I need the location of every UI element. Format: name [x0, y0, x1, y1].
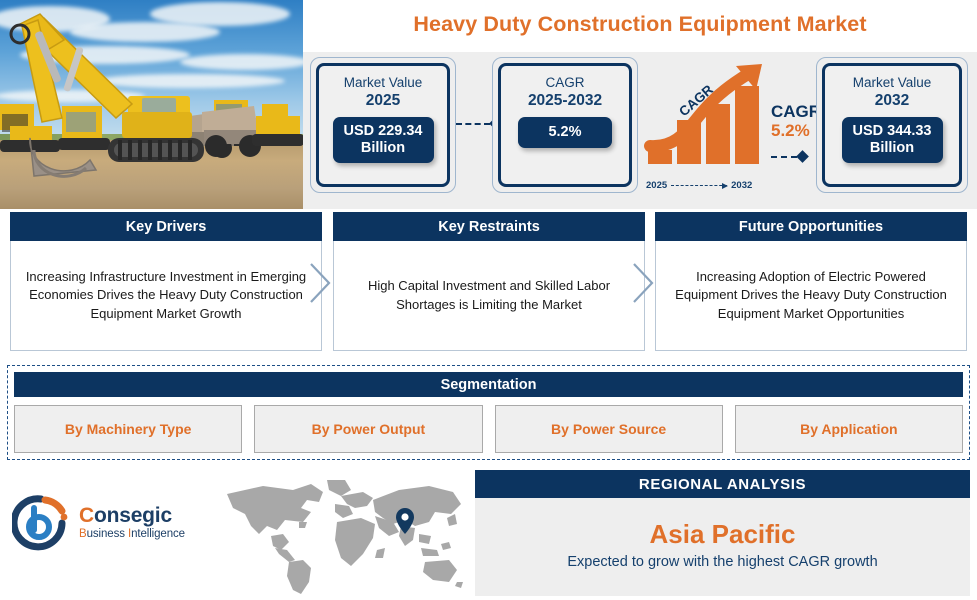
panel-key-drivers[interactable]: Key Drivers Increasing Infrastructure In… [10, 212, 322, 351]
regional-analysis-section: REGIONAL ANALYSIS Asia Pacific Expected … [475, 470, 970, 596]
axis-end-year: 2032 [731, 180, 752, 191]
header-panel: Heavy Duty Construction Equipment Market… [303, 0, 977, 209]
consegic-logo-icon [12, 494, 70, 552]
segmentation-items: By Machinery Type By Power Output By Pow… [14, 405, 963, 453]
cagr-axis: 2025 2032 [646, 180, 752, 191]
segmentation-item-power-output[interactable]: By Power Output [254, 405, 482, 453]
panel-key-restraints[interactable]: Key Restraints High Capital Investment a… [333, 212, 645, 351]
brand-logo-text: Consegic Business Intelligence [79, 505, 185, 540]
cagr-side-value: 5.2% [771, 120, 821, 141]
metric-card-cagr[interactable]: CAGR 2025-2032 5.2% [492, 57, 638, 193]
axis-arrow [671, 185, 727, 186]
panel-heading: Key Restraints [333, 212, 645, 241]
cagr-side-label: CAGR [771, 103, 821, 120]
chevron-connector-icon [306, 262, 332, 304]
bar-2032 [735, 86, 759, 164]
panel-text: Increasing Infrastructure Investment in … [10, 241, 322, 351]
panel-text: Increasing Adoption of Electric Powered … [655, 241, 967, 351]
segmentation-item-power-source[interactable]: By Power Source [495, 405, 723, 453]
metric-card-market-value-2032[interactable]: Market Value 2032 USD 344.33 Billion [816, 57, 968, 193]
segmentation-item-machinery-type[interactable]: By Machinery Type [14, 405, 242, 453]
panel-heading: Key Drivers [10, 212, 322, 241]
segmentation-item-application[interactable]: By Application [735, 405, 963, 453]
metric-value: 5.2% [518, 117, 611, 148]
axis-start-year: 2025 [646, 180, 667, 191]
regional-analysis-heading: REGIONAL ANALYSIS [475, 470, 970, 498]
segmentation-heading: Segmentation [14, 372, 963, 397]
bar-2025 [648, 150, 672, 164]
regional-analysis-body: Asia Pacific Expected to grow with the h… [475, 498, 970, 596]
chevron-connector-icon [629, 262, 655, 304]
metric-value: USD 229.34 Billion [333, 117, 434, 162]
metric-label: Market Value 2025 [344, 75, 423, 109]
brand-tagline: Business Intelligence [79, 528, 185, 540]
metric-label: Market Value 2032 [853, 75, 932, 109]
connector-dashed-2 [771, 152, 807, 161]
metric-label: CAGR 2025-2032 [528, 75, 602, 109]
cagr-side-readout: CAGR 5.2% [771, 103, 821, 141]
infographic-root: Heavy Duty Construction Equipment Market… [0, 0, 977, 600]
panel-future-opportunities[interactable]: Future Opportunities Increasing Adoption… [655, 212, 967, 351]
metric-value: USD 344.33 Billion [842, 117, 943, 162]
world-map [215, 478, 467, 596]
regional-analysis-note: Expected to grow with the highest CAGR g… [567, 554, 877, 570]
panel-text: High Capital Investment and Skilled Labo… [333, 241, 645, 351]
page-title: Heavy Duty Construction Equipment Market [303, 12, 977, 37]
brand-logo[interactable]: Consegic Business Intelligence [12, 494, 185, 552]
bar-2029 [706, 104, 730, 164]
panel-heading: Future Opportunities [655, 212, 967, 241]
metric-card-market-value-2025[interactable]: Market Value 2025 USD 229.34 Billion [310, 57, 456, 193]
cagr-growth-chart: CAGR [644, 62, 774, 177]
brand-name: Consegic [79, 505, 185, 527]
excavator-illustration [0, 0, 303, 209]
segmentation-section: Segmentation By Machinery Type By Power … [7, 365, 970, 460]
construction-equipment-photo [0, 0, 303, 209]
regional-analysis-region: Asia Pacific [650, 520, 796, 549]
